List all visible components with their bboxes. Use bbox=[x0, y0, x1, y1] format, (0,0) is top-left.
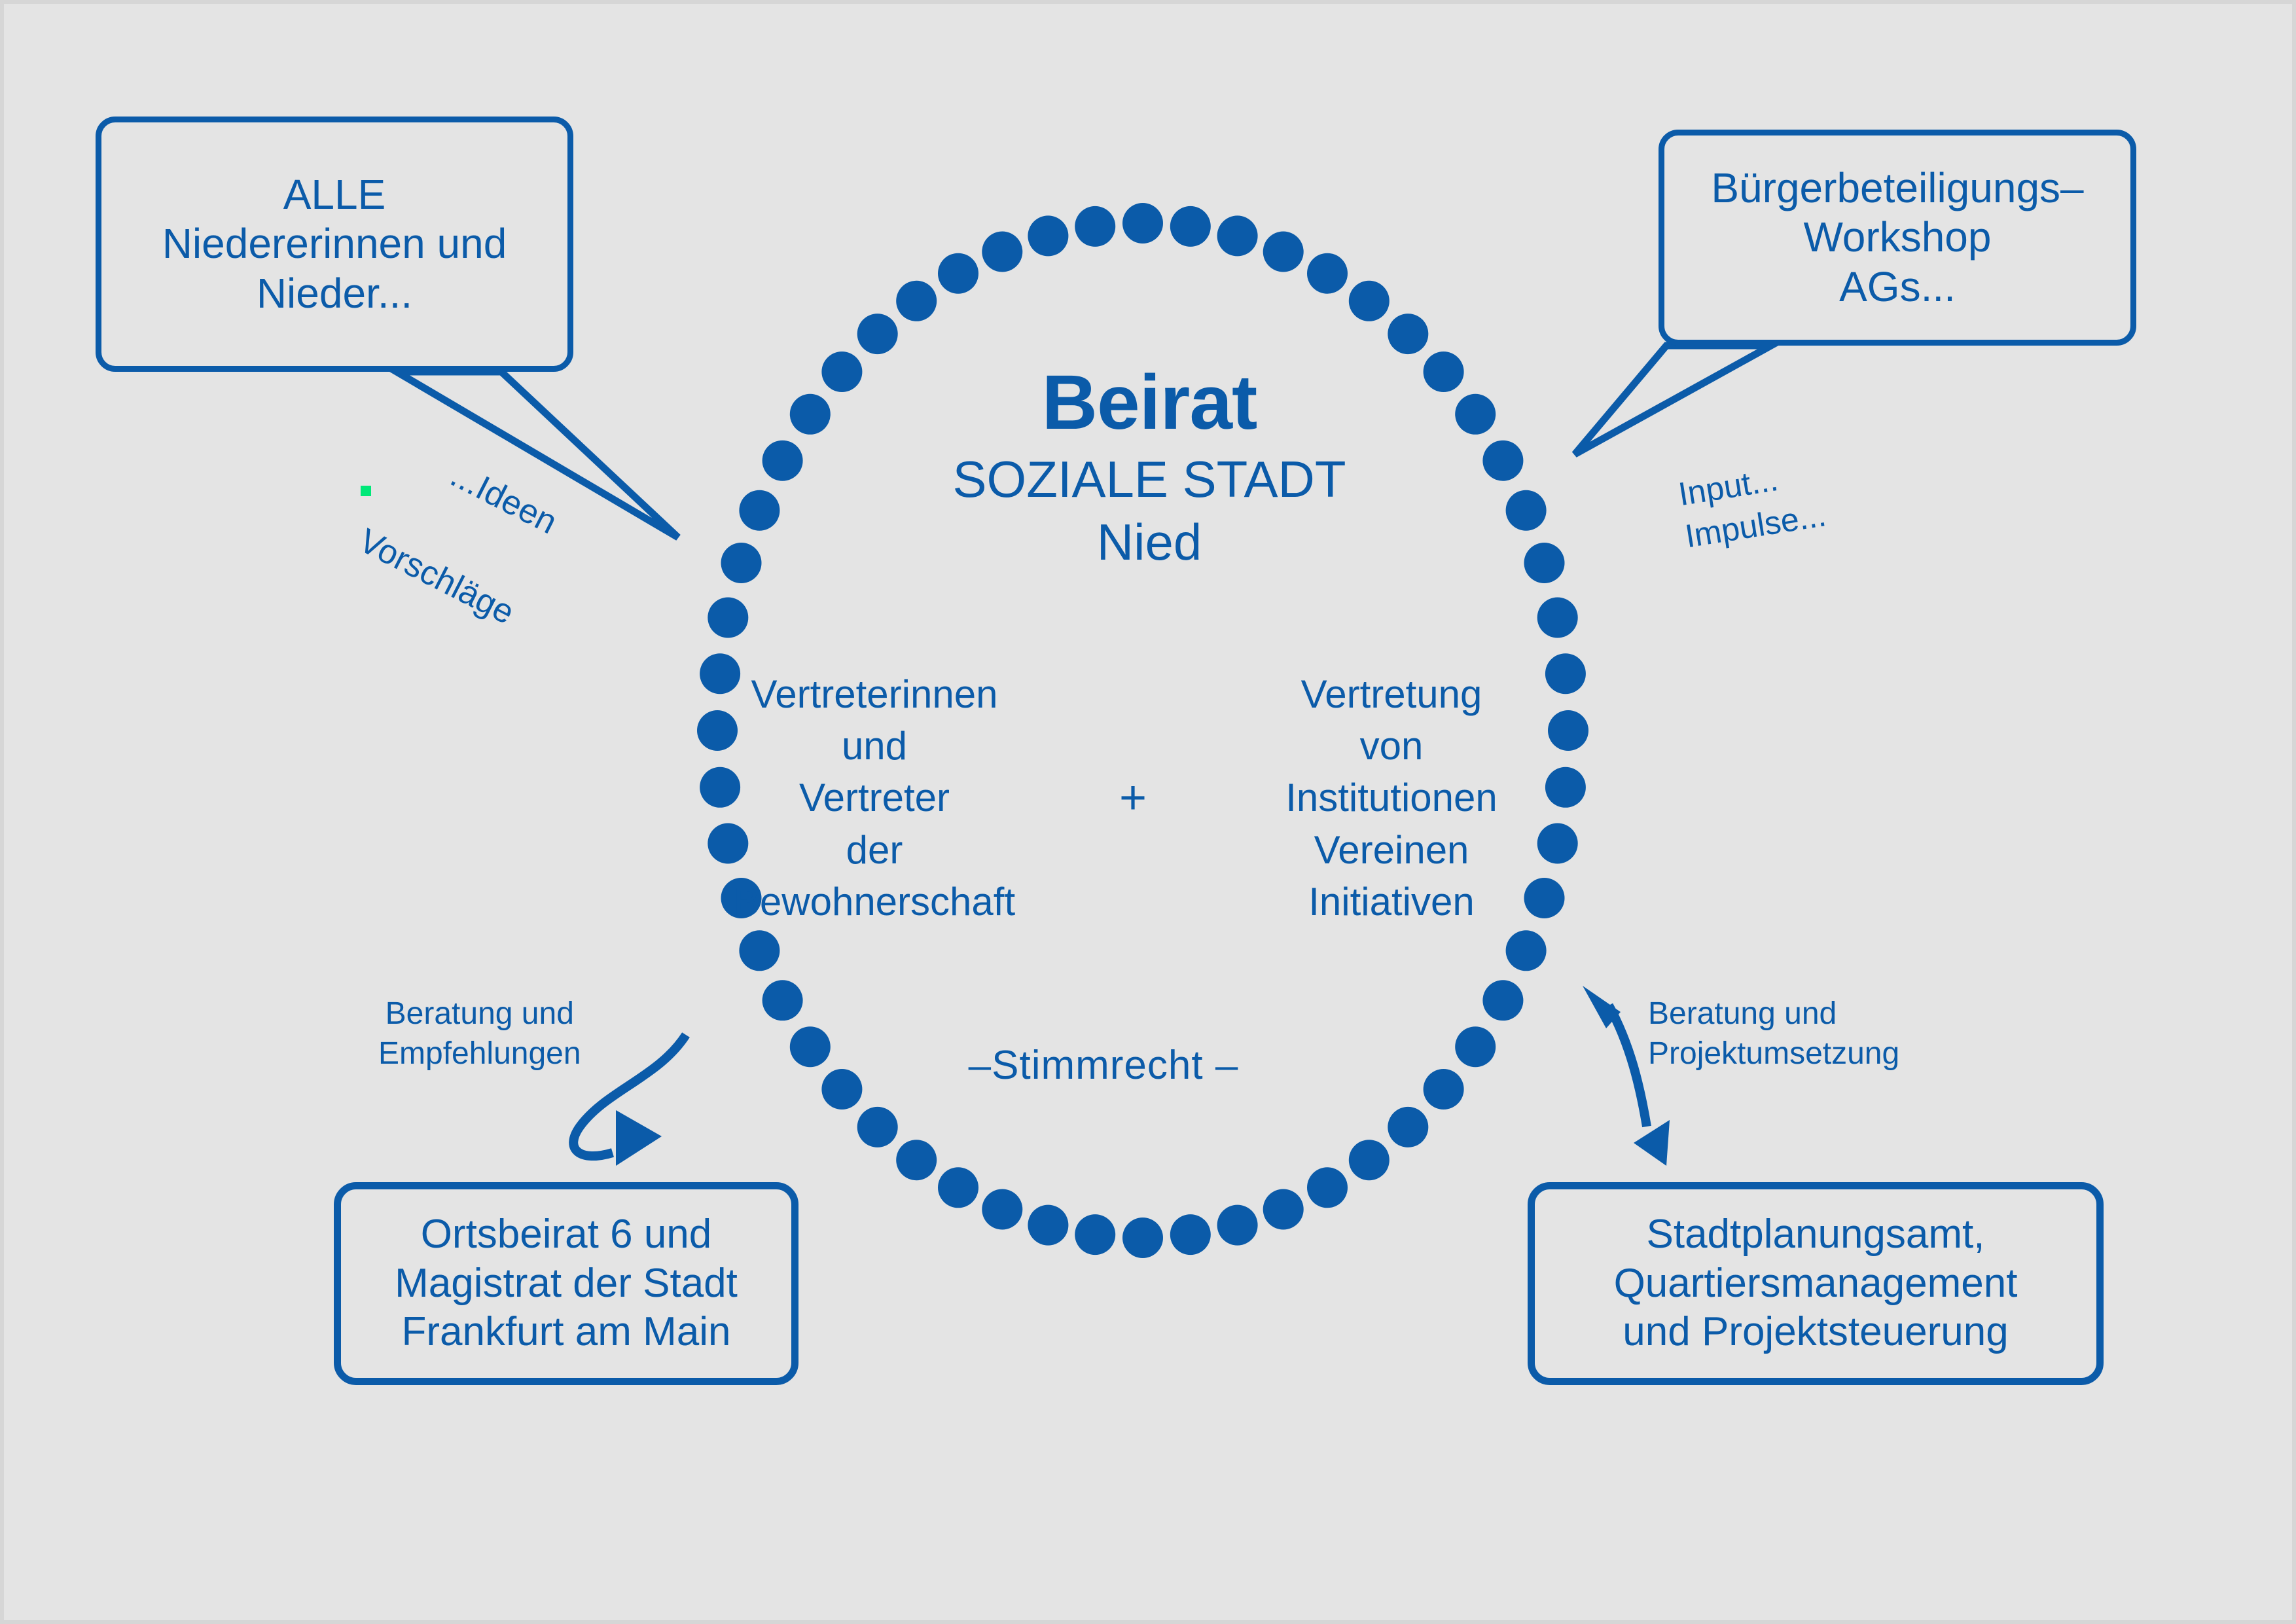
bubble-right-text: Bürgerbeteiligungs– Workshop AGs... bbox=[1711, 164, 2083, 312]
bubble-alle-niedererinnen: ALLE Niedererinnen und Nieder... bbox=[96, 117, 573, 372]
bubble-right-tail bbox=[1575, 346, 1771, 454]
arrow-beratung-empfehlungen-head bbox=[616, 1110, 662, 1166]
ring-dot bbox=[1122, 203, 1163, 244]
green-speck-artifact bbox=[361, 486, 371, 496]
ring-dot bbox=[896, 1140, 937, 1180]
ring-dot bbox=[896, 281, 937, 321]
ring-dot bbox=[1482, 980, 1523, 1020]
ring-dot bbox=[1307, 253, 1348, 294]
plus-sign: + bbox=[1100, 774, 1166, 821]
ring-dot bbox=[1028, 215, 1068, 256]
ring-dot bbox=[721, 543, 762, 583]
column-institutionen: Vertretung von Institutionen Vereinen In… bbox=[1215, 668, 1568, 928]
column-institutionen-line-1: von bbox=[1215, 720, 1568, 772]
annotation-ideen: ...Ideen bbox=[444, 456, 564, 542]
ring-dot bbox=[1122, 1218, 1163, 1258]
ring-dot bbox=[739, 490, 780, 531]
column-institutionen-line-4: Initiativen bbox=[1215, 876, 1568, 928]
ring-dot bbox=[790, 1026, 831, 1067]
annotation-input-impulse: Input... Impulse... bbox=[1676, 452, 1829, 558]
center-columns: Vertreterinnen und Vertreter der Bewohne… bbox=[698, 668, 1568, 928]
ring-dot bbox=[1263, 1189, 1304, 1230]
page-title: Beirat bbox=[842, 364, 1457, 441]
ring-dot bbox=[1455, 394, 1496, 435]
box-stadtplanungsamt: Stadtplanungsamt, Quartiersmanagement un… bbox=[1528, 1182, 2104, 1385]
ring-dot bbox=[790, 394, 831, 435]
column-institutionen-line-3: Vereinen bbox=[1215, 824, 1568, 876]
box-left-text: Ortsbeirat 6 und Magistrat der Stadt Fra… bbox=[395, 1210, 738, 1356]
stimmrecht-label: –Stimmrecht – bbox=[855, 1042, 1352, 1089]
ring-dot bbox=[1455, 1026, 1496, 1067]
ring-dot bbox=[1075, 206, 1115, 247]
ring-dot bbox=[1349, 1140, 1390, 1180]
ring-dot bbox=[739, 930, 780, 971]
box-ortsbeirat-magistrat: Ortsbeirat 6 und Magistrat der Stadt Fra… bbox=[334, 1182, 798, 1385]
ring-dot bbox=[762, 980, 803, 1020]
ring-dot bbox=[1506, 490, 1547, 531]
arrow-beratung-empfehlungen bbox=[573, 1035, 686, 1156]
annotation-vorschlaege: Vorschläge bbox=[353, 521, 520, 632]
center-subtitle-line2: Nied bbox=[842, 512, 1457, 573]
ring-dot bbox=[1217, 1205, 1258, 1246]
box-right-text: Stadtplanungsamt, Quartiersmanagement un… bbox=[1614, 1210, 2018, 1356]
bubble-buergerbeteiligung: Bürgerbeteiligungs– Workshop AGs... bbox=[1659, 130, 2136, 346]
ring-dot bbox=[982, 1189, 1022, 1230]
ring-dot bbox=[982, 232, 1022, 272]
ring-dot bbox=[1388, 1107, 1428, 1147]
ring-dot bbox=[1263, 232, 1304, 272]
arrow-projektumsetzung-head-down bbox=[1634, 1120, 1670, 1166]
column-institutionen-line-0: Vertretung bbox=[1215, 668, 1568, 720]
ring-dot bbox=[1424, 1069, 1464, 1110]
ring-dot bbox=[762, 441, 803, 481]
arrow-beratung-projektumsetzung bbox=[1609, 1005, 1647, 1127]
column-institutionen-line-2: Institutionen bbox=[1215, 772, 1568, 823]
center-title-block: Beirat SOZIALE STADT Nied bbox=[842, 364, 1457, 573]
ring-dot bbox=[1217, 215, 1258, 256]
ring-dot bbox=[1028, 1205, 1068, 1246]
ring-dot bbox=[1307, 1167, 1348, 1208]
ring-dot bbox=[938, 1167, 978, 1208]
annotation-beratung-empfehlungen: Beratung und Empfehlungen bbox=[378, 994, 581, 1074]
annotation-beratung-projektumsetzung: Beratung und Projektumsetzung bbox=[1648, 994, 1899, 1074]
ring-dot bbox=[1537, 598, 1578, 638]
diagram-canvas: ALLE Niedererinnen und Nieder... Bürgerb… bbox=[0, 0, 2296, 1624]
ring-dot bbox=[1506, 930, 1547, 971]
ring-dot bbox=[708, 598, 748, 638]
ring-dot bbox=[938, 253, 978, 294]
ring-dot bbox=[1349, 281, 1390, 321]
ring-dot bbox=[1170, 206, 1211, 247]
ring-dot bbox=[1482, 441, 1523, 481]
ring-dot bbox=[1524, 543, 1565, 583]
ring-dot bbox=[857, 314, 898, 354]
ring-dot bbox=[1170, 1214, 1211, 1255]
bubble-left-text: ALLE Niedererinnen und Nieder... bbox=[162, 170, 507, 319]
center-subtitle-line1: SOZIALE STADT bbox=[842, 448, 1457, 512]
column-bewohnerschaft: Vertreterinnen und Vertreter der Bewohne… bbox=[698, 668, 1051, 928]
ring-dot bbox=[1075, 1214, 1115, 1255]
ring-dot bbox=[1388, 314, 1428, 354]
ring-dot bbox=[857, 1107, 898, 1147]
arrow-projektumsetzung-head-up bbox=[1583, 986, 1621, 1028]
